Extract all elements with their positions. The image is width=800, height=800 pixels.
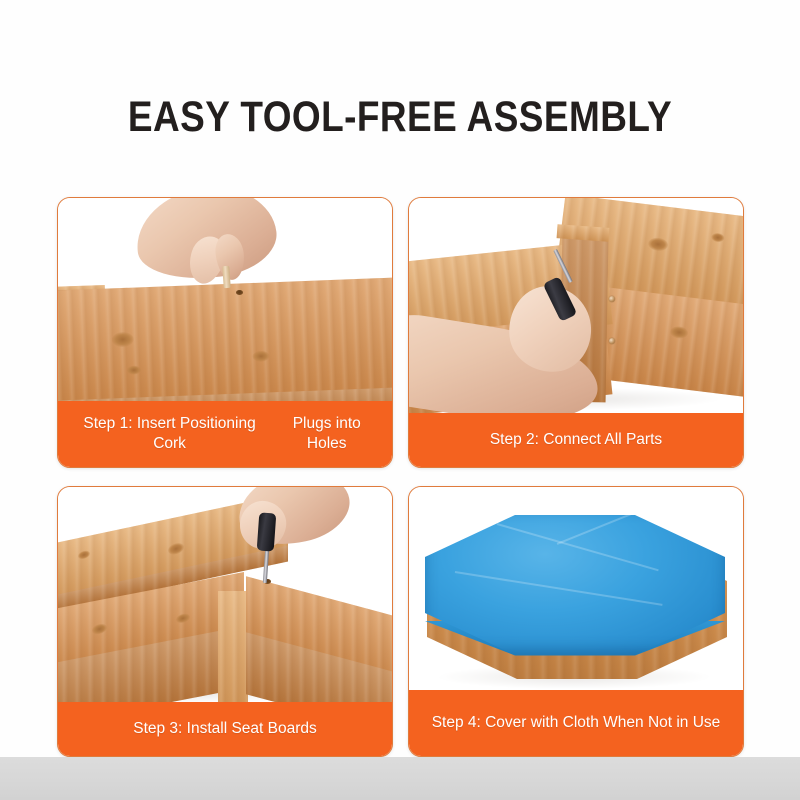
corner-leg — [218, 591, 248, 702]
wood-board-main — [58, 277, 392, 401]
pre-drilled-hole — [236, 290, 243, 295]
step-1-caption: Step 1: Insert Positioning Cork Plugs in… — [58, 401, 392, 467]
screw-head — [609, 296, 615, 302]
step-1-caption-line-1: Step 1: Insert Positioning Cork — [70, 414, 269, 454]
step-4-caption-line-1: Step 4: Cover with Cloth When — [432, 713, 644, 733]
screwdriver-shaft — [263, 549, 269, 583]
bottom-strip — [0, 757, 800, 800]
step-card-2[interactable]: Step 2: Connect All Parts — [408, 197, 744, 468]
step-card-1[interactable]: Step 1: Insert Positioning Cork Plugs in… — [57, 197, 393, 468]
step-1-caption-line-2: Plugs into Holes — [273, 414, 380, 454]
page-title: EASY TOOL-FREE ASSEMBLY — [56, 96, 744, 139]
step-1-photo — [58, 198, 392, 401]
step-4-caption-line-2: Not in Use — [648, 713, 720, 733]
step-card-4[interactable]: Step 4: Cover with Cloth When Not in Use — [408, 486, 744, 757]
step-card-3[interactable]: Step 3: Install Seat Boards — [57, 486, 393, 757]
step-3-caption: Step 3: Install Seat Boards — [58, 702, 392, 756]
steps-grid: Step 1: Insert Positioning Cork Plugs in… — [57, 197, 744, 757]
blue-fabric-cover — [425, 515, 725, 655]
step-4-photo — [409, 487, 743, 690]
screwdriver-handle — [257, 512, 277, 551]
cork-plug — [222, 266, 231, 288]
step-3-photo — [58, 487, 392, 702]
screw-head — [609, 338, 615, 344]
step-4-caption: Step 4: Cover with Cloth When Not in Use — [409, 690, 743, 756]
step-2-photo — [409, 198, 743, 413]
sandbox-assembly — [421, 513, 733, 681]
infographic-page: EASY TOOL-FREE ASSEMBLY — [0, 0, 800, 800]
step-2-caption: Step 2: Connect All Parts — [409, 413, 743, 467]
